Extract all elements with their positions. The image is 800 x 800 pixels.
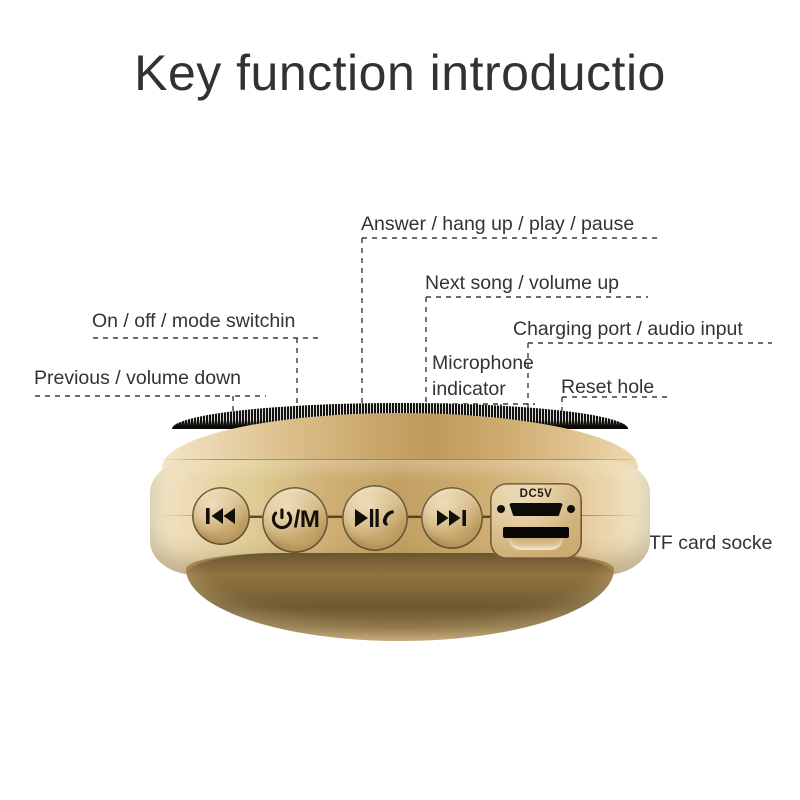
microphone-dot (497, 505, 505, 513)
play-pause-call-icon (355, 507, 395, 529)
next-track-icon (437, 509, 467, 527)
dc-voltage-label: DC5V (490, 488, 582, 500)
callout-tf-card-socket: TF card socke (649, 530, 773, 556)
diagram-canvas: Key function introductio Answer / hang u… (0, 0, 800, 800)
bluetooth-speaker: /M (150, 403, 650, 643)
usb-port[interactable] (509, 503, 563, 516)
callout-reset-hole: Reset hole (561, 374, 654, 400)
callout-microphone-indicator: Microphone indicator (432, 350, 534, 402)
previous-track-icon (206, 507, 236, 525)
next-button[interactable] (421, 487, 483, 549)
play-pause-button[interactable] (342, 485, 408, 551)
tf-card-lip (509, 538, 563, 550)
previous-button[interactable] (192, 487, 250, 545)
callout-charging-port-audio-input: Charging port / audio input (513, 316, 743, 342)
button-connector (249, 516, 263, 518)
power-mode-label: /M (294, 508, 320, 532)
tf-card-slot[interactable] (503, 527, 569, 538)
button-connector (407, 516, 421, 518)
port-panel: DC5V (490, 483, 582, 559)
callout-on-off-mode-switching: On / off / mode switchin (92, 308, 295, 334)
speaker-seam-upper (156, 459, 644, 460)
power-mode-icon: /M (271, 508, 320, 532)
callout-next-song-volume-up: Next song / volume up (425, 270, 619, 296)
speaker-bottom-dome (186, 553, 614, 641)
callout-previous-volume-down: Previous / volume down (34, 365, 241, 391)
leader-lines (0, 0, 800, 800)
button-connector (328, 516, 342, 518)
callout-answer-hangup-play-pause: Answer / hang up / play / pause (361, 211, 634, 237)
reset-dot[interactable] (567, 505, 575, 513)
power-mode-button[interactable]: /M (262, 487, 328, 553)
